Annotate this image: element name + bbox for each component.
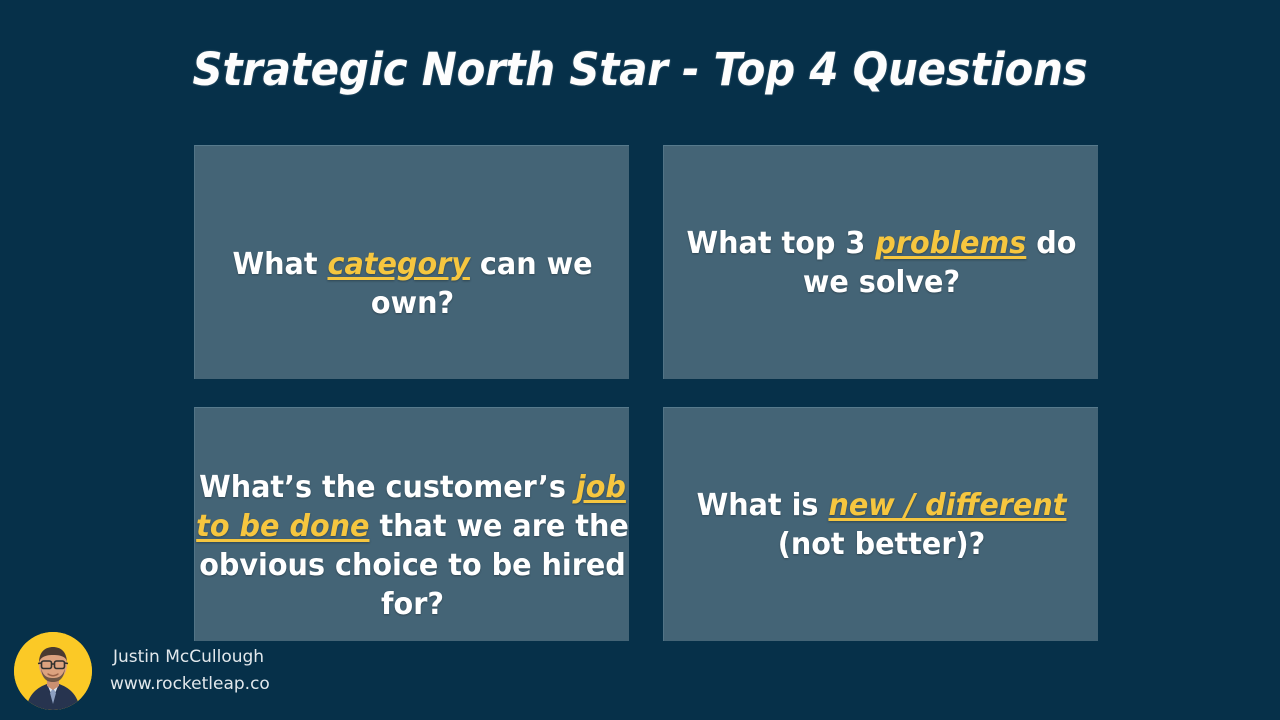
attribution-website[interactable]: www.rocketleap.co: [110, 671, 270, 698]
question-card-grid: What category can we own? What top 3 pro…: [194, 145, 1098, 642]
question-card-3-text: What’s the customer’s job to be done tha…: [191, 468, 633, 624]
question-card-1-highlight: category: [327, 247, 469, 282]
person-photo-avatar-icon: [14, 632, 92, 710]
question-card-2-text: What top 3 problems do we solve?: [660, 224, 1102, 302]
question-card-1-text-before: What: [232, 247, 327, 282]
question-card-4-text: What is new / different (not better)?: [660, 486, 1102, 564]
question-card-4-highlight: new / different: [828, 488, 1066, 523]
question-card-3[interactable]: What’s the customer’s job to be done tha…: [194, 407, 629, 641]
question-card-4[interactable]: What is new / different (not better)?: [663, 407, 1098, 641]
question-card-4-text-after: (not better)?: [778, 527, 985, 562]
question-card-1-text: What category can we own?: [191, 245, 633, 323]
attribution: Justin McCullough www.rocketleap.co: [14, 629, 270, 713]
question-card-2-highlight: problems: [875, 226, 1026, 261]
page-title: Strategic North Star - Top 4 Questions: [45, 40, 1235, 100]
question-card-2-text-before: What top 3: [687, 226, 876, 261]
slide-canvas: Strategic North Star - Top 4 Questions W…: [0, 0, 1280, 720]
question-card-2[interactable]: What top 3 problems do we solve?: [663, 145, 1098, 379]
avatar: [14, 632, 92, 710]
question-card-1[interactable]: What category can we own?: [194, 145, 629, 379]
attribution-name: Justin McCullough: [110, 644, 270, 671]
question-card-4-text-before: What is: [697, 488, 829, 523]
attribution-text: Justin McCullough www.rocketleap.co: [110, 644, 270, 698]
question-card-3-text-before: What’s the customer’s: [199, 470, 576, 505]
